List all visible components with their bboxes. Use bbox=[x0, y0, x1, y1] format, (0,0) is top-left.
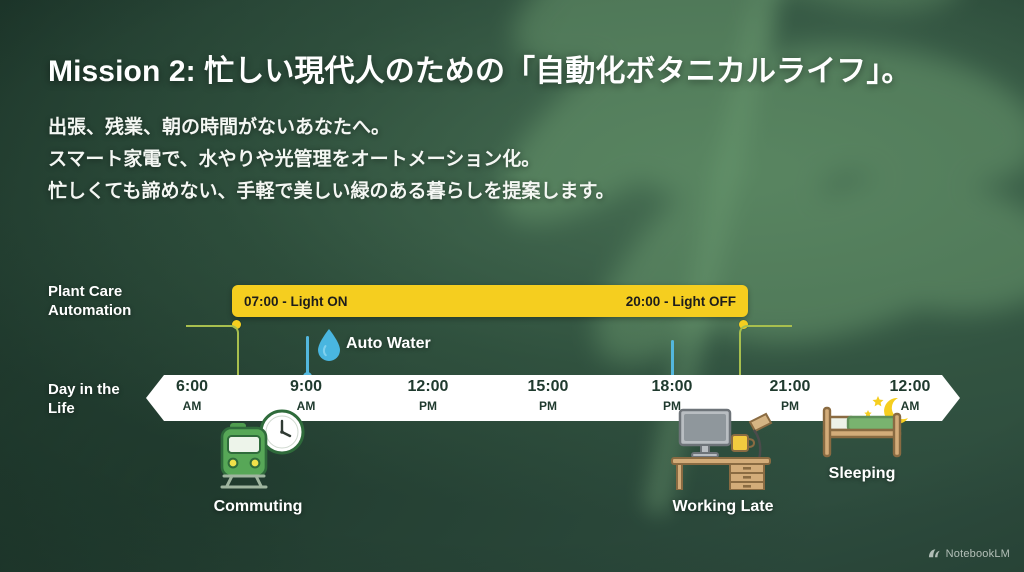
desk-lamp-icon bbox=[668, 404, 778, 495]
notebooklm-logo-icon bbox=[928, 547, 941, 560]
row-label-plant-care: Plant Care Automation bbox=[48, 282, 218, 320]
activity-label-commuting: Commuting bbox=[214, 498, 303, 516]
tick-time-0: 6:00 bbox=[147, 378, 237, 396]
activity-label-working-late: Working Late bbox=[672, 498, 773, 516]
tick-time-3: 15:00 bbox=[503, 378, 593, 396]
connector-left-elbow bbox=[186, 325, 239, 380]
tick-meridiem-2: PM bbox=[383, 399, 473, 413]
notebooklm-watermark: NotebookLM bbox=[928, 547, 1010, 560]
activity-label-sleeping: Sleeping bbox=[829, 465, 896, 483]
lede-line-2: スマート家電で、水やりや光管理をオートメーション化。 bbox=[48, 144, 615, 176]
tick-meridiem-3: PM bbox=[503, 399, 593, 413]
tick-time-4: 18:00 bbox=[627, 378, 717, 396]
tick-time-1: 9:00 bbox=[261, 378, 351, 396]
notebooklm-label: NotebookLM bbox=[946, 548, 1010, 560]
row-label-plant-care-line2: Automation bbox=[48, 301, 218, 320]
row-label-plant-care-line1: Plant Care bbox=[48, 282, 218, 301]
water-drop-icon bbox=[316, 328, 342, 362]
auto-water-label: Auto Water bbox=[346, 335, 431, 353]
lede-line-3: 忙しくても諦めない、手軽で美しい緑のある暮らしを提案します。 bbox=[48, 176, 615, 208]
page-title: Mission 2: 忙しい現代人のための「自動化ボタニカルライフ」。 bbox=[48, 46, 912, 90]
tick-time-2: 12:00 bbox=[383, 378, 473, 396]
train-clock-icon bbox=[212, 408, 308, 497]
automation-span-bar: 07:00 - Light ON 20:00 - Light OFF bbox=[232, 285, 748, 317]
bed-moon-icon bbox=[818, 392, 914, 463]
light-off-label: 20:00 - Light OFF bbox=[626, 294, 736, 309]
lede-paragraph: 出張、残業、朝の時間がないあなたへ。 スマート家電で、水やりや光管理をオートメー… bbox=[48, 112, 615, 208]
evening-marker-tick bbox=[671, 340, 674, 378]
lede-line-1: 出張、残業、朝の時間がないあなたへ。 bbox=[48, 112, 615, 144]
connector-right-elbow bbox=[739, 325, 792, 380]
slide-root: Mission 2: 忙しい現代人のための「自動化ボタニカルライフ」。 出張、残… bbox=[0, 0, 1024, 572]
light-on-label: 07:00 - Light ON bbox=[244, 294, 348, 309]
